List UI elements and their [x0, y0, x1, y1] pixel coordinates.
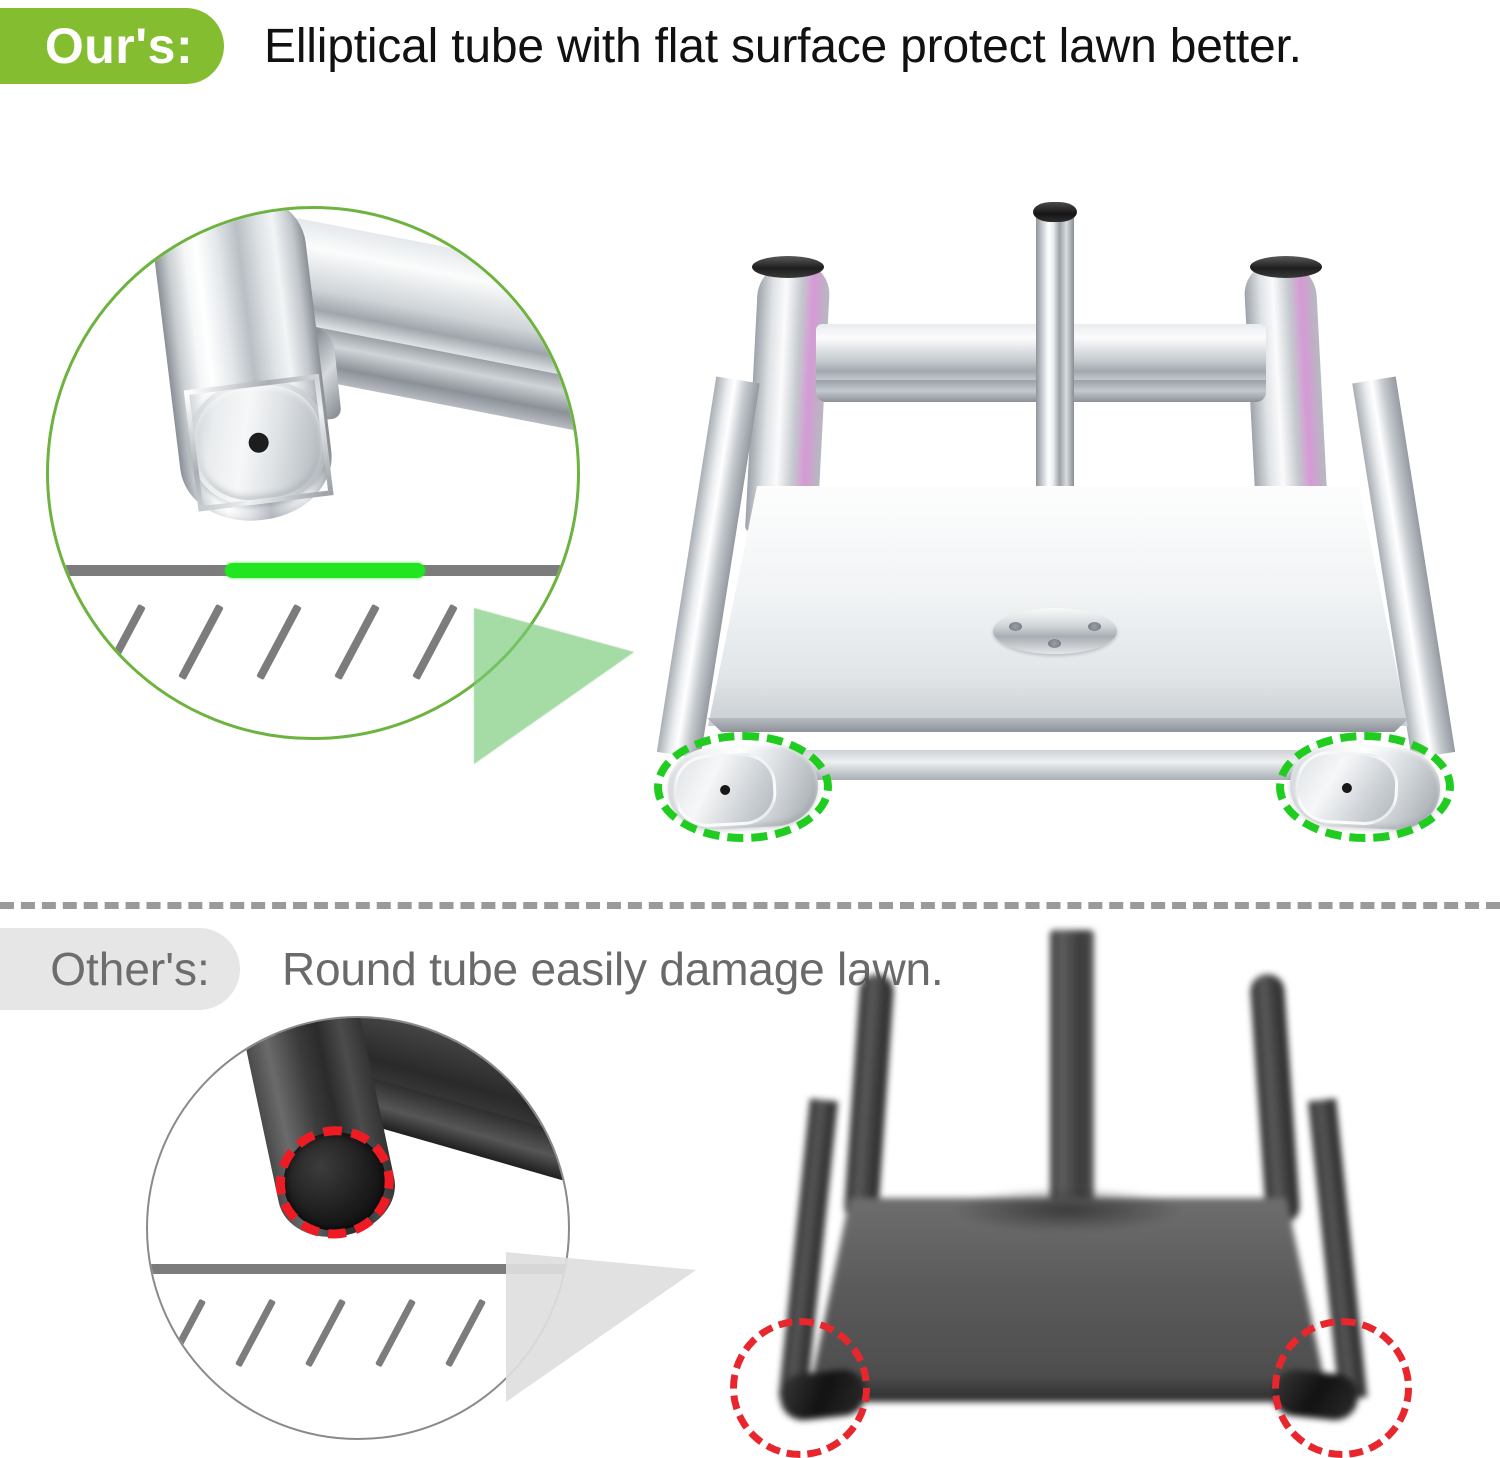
- ours-callout-ring-left: [654, 732, 832, 842]
- other-inset-hatch-mark: [165, 1299, 206, 1368]
- other-pole-base-shadow: [952, 1188, 1182, 1232]
- section-divider: [0, 902, 1500, 909]
- other-connector-triangle: [506, 1252, 696, 1402]
- ours-product-image: [640, 190, 1470, 860]
- ours-pole-cap: [1033, 202, 1077, 222]
- ours-callout-ring-right: [1276, 732, 1454, 842]
- ours-headline: Elliptical tube with flat surface protec…: [264, 19, 1302, 74]
- ours-inset-flat-contact-highlight: [225, 563, 425, 578]
- other-rear-leg-left: [843, 973, 894, 1225]
- ours-base-plate: [708, 486, 1408, 726]
- other-inset-hatch-mark: [445, 1299, 486, 1368]
- other-inset-hatch-mark: [375, 1299, 416, 1368]
- other-callout-ring-left: [730, 1318, 870, 1458]
- ours-pole-flange: [993, 608, 1117, 654]
- ours-base-plate-edge: [700, 718, 1416, 732]
- other-badge: Other's:: [0, 928, 240, 1010]
- ours-connector-triangle: [474, 608, 634, 764]
- ours-badge: Our's:: [0, 8, 224, 84]
- ours-section-header: Our's: Elliptical tube with flat surface…: [0, 8, 1302, 84]
- ours-flange-screw: [1009, 622, 1022, 631]
- ours-rear-leg-cap-right: [1250, 256, 1322, 278]
- ours-flange-screw: [1048, 639, 1061, 648]
- other-inset-ground-line: [148, 1264, 568, 1274]
- other-inset-content: [148, 1018, 568, 1438]
- other-callout-ring-right: [1272, 1318, 1412, 1458]
- ours-front-rail: [780, 750, 1340, 780]
- ours-inset-elliptical-tube: [147, 206, 338, 529]
- other-front-rail: [848, 1378, 1292, 1402]
- ours-flange-screw: [1088, 622, 1101, 631]
- infographic-canvas: Our's: Elliptical tube with flat surface…: [0, 0, 1500, 1458]
- other-rear-leg-right: [1249, 973, 1300, 1225]
- other-inset-hatch-mark: [235, 1299, 276, 1368]
- other-inset-hatch-mark: [305, 1299, 346, 1368]
- ours-rear-leg-cap-left: [752, 256, 824, 278]
